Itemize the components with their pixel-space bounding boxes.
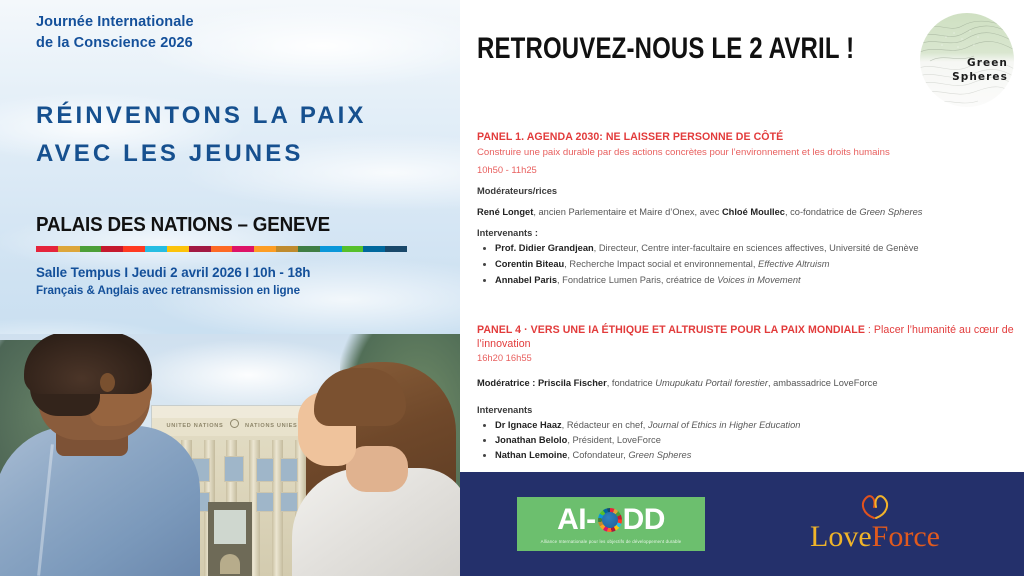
list-item: Dr Ignace Haaz, Rédacteur en chef, Journ… xyxy=(495,418,1017,433)
event-details: Salle Tempus I Jeudi 2 avril 2026 I 10h … xyxy=(36,264,460,298)
ai-odd-text-2: DD xyxy=(623,505,665,535)
list-item: Prof. Didier Grandjean, Directeur, Centr… xyxy=(495,241,1017,257)
logo-name-line-2: Spheres xyxy=(952,71,1008,85)
sdg-color-segment xyxy=(211,246,233,252)
panel-4-speakers-label: Intervenants xyxy=(477,405,1017,415)
sdg-color-segment xyxy=(80,246,102,252)
page-title: RETROUVEZ-NOUS LE 2 AVRIL ! xyxy=(477,32,854,66)
list-item: Corentin Biteau, Recherche Impact social… xyxy=(495,257,1017,273)
panel-1-moderator-mid: , ancien Parlementaire et Maire d’Onex, … xyxy=(533,207,722,217)
panel-4-title: PANEL 4 · VERS UNE IA ÉTHIQUE ET ALTRUIS… xyxy=(477,323,1017,351)
speaker-org: Journal of Ethics in Higher Education xyxy=(648,420,800,430)
sdg-color-segment xyxy=(342,246,364,252)
event-language-line: Français & Anglais avec retransmission e… xyxy=(36,283,460,299)
panel-4-title-bold: PANEL 4 · VERS UNE IA ÉTHIQUE ET ALTRUIS… xyxy=(477,324,865,336)
panel-1-title-bold: PANEL 1. AGENDA 2030: NE LAISSER PERSONN… xyxy=(477,131,783,143)
sdg-color-segment xyxy=(254,246,276,252)
speaker-role: , Cofondateur, xyxy=(567,450,628,460)
panel-1-subtitle: Construire une paix durable par des acti… xyxy=(477,146,1017,160)
sdg-globe-icon xyxy=(598,508,622,532)
panel-1-speakers-label: Intervenants : xyxy=(477,228,1017,238)
panel-4-moderator-name: Modératrice : Priscila Fischer xyxy=(477,378,607,388)
speaker-org: Effective Altruism xyxy=(758,259,829,269)
sdg-color-segment xyxy=(145,246,167,252)
sdg-color-segment xyxy=(385,246,407,252)
right-panel: Green Spheres RETROUVEZ-NOUS LE 2 AVRIL … xyxy=(460,0,1024,576)
loveforce-text-force: Force xyxy=(872,520,940,553)
panel-4-moderator-line: Modératrice : Priscila Fischer, fondatri… xyxy=(477,377,1017,391)
kicker-line-1: Journée Internationale xyxy=(36,12,460,33)
speaker-name: Annabel Paris xyxy=(495,275,557,285)
speaker-name: Nathan Lemoine xyxy=(495,450,567,460)
headline-line-2: AVEC LES JEUNES xyxy=(36,135,460,172)
panel-4-time: 16h20 16h55 xyxy=(477,351,1017,364)
event-date-line: Salle Tempus I Jeudi 2 avril 2026 I 10h … xyxy=(36,264,460,283)
event-headline: RÉINVENTONS LA PAIX AVEC LES JEUNES xyxy=(36,97,460,172)
event-poster: UNITED NATIONS NATIONS UNIES xyxy=(0,0,1024,576)
panel-1-moderator-name-2: Chloé Moullec xyxy=(722,207,785,217)
speaker-org: Voices in Movement xyxy=(717,275,800,285)
ai-odd-wordmark: AI- DD xyxy=(557,505,665,535)
event-venue: PALAIS DES NATIONS – GENEVE xyxy=(36,214,435,237)
sdg-color-segment xyxy=(123,246,145,252)
panel-4-speakers-list: Dr Ignace Haaz, Rédacteur en chef, Journ… xyxy=(477,418,1017,463)
sdg-color-segment xyxy=(101,246,123,252)
loveforce-wordmark: LoveForce xyxy=(790,522,960,552)
list-item: Jonathan Belolo, Président, LoveForce xyxy=(495,433,1017,448)
logo-name-line-1: Green xyxy=(952,57,1008,71)
sdg-color-bar xyxy=(36,246,407,252)
speaker-role: , Directeur, Centre inter-facultaire en … xyxy=(594,243,919,253)
photo-caption-right: NATIONS UNIES xyxy=(245,423,298,429)
sponsor-footer: AI- DD Alliance Internationale pour les … xyxy=(460,472,1024,576)
sdg-color-segment xyxy=(167,246,189,252)
sdg-color-segment xyxy=(58,246,80,252)
kicker-line-2: de la Conscience 2026 xyxy=(36,33,460,54)
event-kicker: Journée Internationale de la Conscience … xyxy=(36,12,460,53)
person-right-silhouette xyxy=(292,362,460,576)
panel-4-moderator-org-italic: Umupukatu Portail forestier xyxy=(655,378,768,388)
sdg-color-segment xyxy=(36,246,58,252)
headline-line-1: RÉINVENTONS LA PAIX xyxy=(36,97,460,134)
speaker-role: , Rédacteur en chef, xyxy=(562,420,648,430)
left-panel: UNITED NATIONS NATIONS UNIES xyxy=(0,0,460,576)
panel-4-moderator-org: , ambassadrice LoveForce xyxy=(768,378,878,388)
person-left-silhouette xyxy=(0,344,200,576)
un-emblem-icon xyxy=(230,419,239,428)
speaker-role: , Recherche Impact social et environneme… xyxy=(564,259,758,269)
ai-odd-tagline: Alliance Internationale pour les objecti… xyxy=(541,538,682,543)
speaker-role: , Président, LoveForce xyxy=(567,435,661,445)
ai-odd-logo: AI- DD Alliance Internationale pour les … xyxy=(517,497,705,551)
sdg-color-segment xyxy=(232,246,254,252)
sdg-color-segment xyxy=(189,246,211,252)
speaker-org: Green Spheres xyxy=(628,450,691,460)
green-spheres-wordmark: Green Spheres xyxy=(952,57,1008,85)
speaker-name: Corentin Biteau xyxy=(495,259,564,269)
loveforce-flame-icon xyxy=(790,492,960,520)
list-item: Nathan Lemoine, Cofondateur, Green Spher… xyxy=(495,448,1017,463)
panels-container: PANEL 1. AGENDA 2030: NE LAISSER PERSONN… xyxy=(477,130,1017,463)
event-photo: UNITED NATIONS NATIONS UNIES xyxy=(0,334,460,576)
panel-1-speakers-list: Prof. Didier Grandjean, Directeur, Centr… xyxy=(477,241,1017,289)
sdg-color-segment xyxy=(276,246,298,252)
ai-odd-text-1: AI- xyxy=(557,505,596,535)
loveforce-text-love: Love xyxy=(810,520,872,553)
list-item: Annabel Paris, Fondatrice Lumen Paris, c… xyxy=(495,273,1017,289)
loveforce-logo: LoveForce xyxy=(790,492,960,552)
green-spheres-logo: Green Spheres xyxy=(920,13,1014,107)
sdg-color-segment xyxy=(320,246,342,252)
speaker-role: , Fondatrice Lumen Paris, créatrice de xyxy=(557,275,717,285)
panel-1-title: PANEL 1. AGENDA 2030: NE LAISSER PERSONN… xyxy=(477,130,1017,144)
panel-4-moderator-mid: , fondatrice xyxy=(607,378,656,388)
speaker-name: Dr Ignace Haaz xyxy=(495,420,562,430)
panel-4: PANEL 4 · VERS UNE IA ÉTHIQUE ET ALTRUIS… xyxy=(477,323,1017,463)
panel-1: PANEL 1. AGENDA 2030: NE LAISSER PERSONN… xyxy=(477,130,1017,289)
sdg-color-segment xyxy=(298,246,320,252)
speaker-name: Prof. Didier Grandjean xyxy=(495,243,594,253)
sdg-color-segment xyxy=(363,246,385,252)
panel-1-time: 10h50 - 11h25 xyxy=(477,163,1017,176)
panel-1-moderator-line: René Longet, ancien Parlementaire et Mai… xyxy=(477,206,1017,220)
panel-1-moderator-label: Modérateurs/rices xyxy=(477,185,1017,199)
speaker-name: Jonathan Belolo xyxy=(495,435,567,445)
panel-1-moderator-name-1: René Longet xyxy=(477,207,533,217)
panel-1-moderator-role: , co-fondatrice de xyxy=(785,207,859,217)
panel-1-moderator-org: Green Spheres xyxy=(859,207,922,217)
